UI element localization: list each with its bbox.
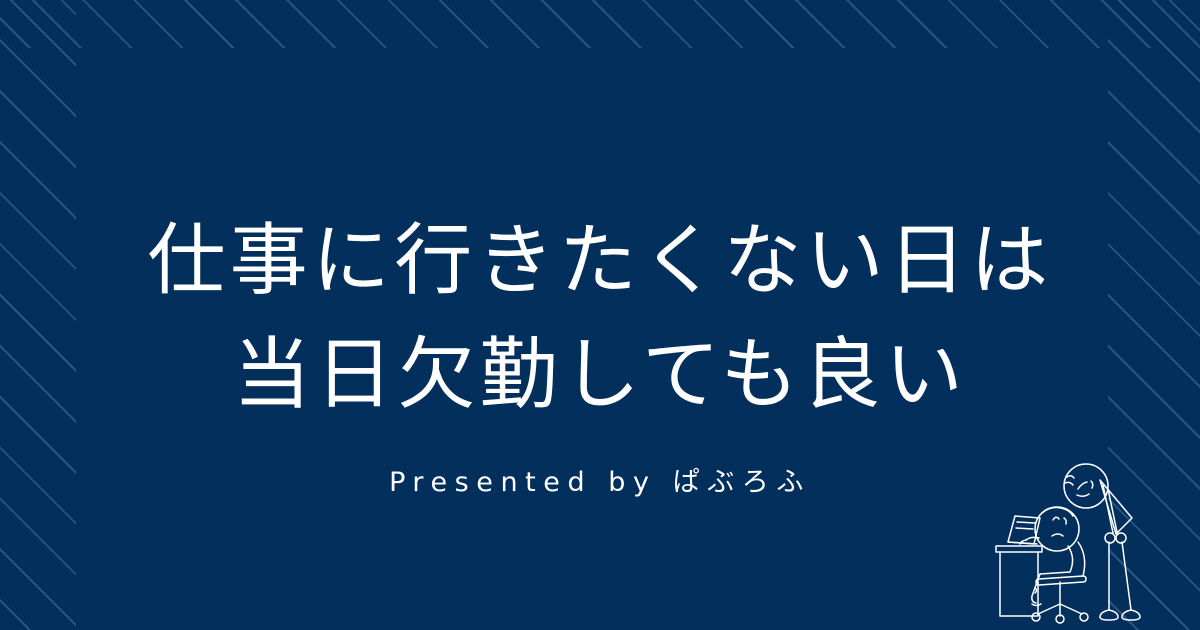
chair-backrest xyxy=(1078,542,1085,576)
standing-figure-hand-right xyxy=(1116,533,1126,543)
chair-seat xyxy=(1036,576,1086,585)
chair-base-right xyxy=(1060,604,1082,614)
title-line-1: 仕事に行きたくない日は xyxy=(147,222,1052,300)
seated-figure-group xyxy=(1020,507,1079,606)
seated-figure-face-icon xyxy=(1052,517,1066,536)
standing-figure-foot-left xyxy=(1100,610,1118,620)
laptop-keyboard xyxy=(1008,542,1037,544)
chair-caster-right xyxy=(1080,613,1088,621)
credit-line: Presented by ぱぶろふ xyxy=(389,460,811,499)
desk-top xyxy=(996,546,1042,552)
desk-drawer-handle xyxy=(1035,588,1037,593)
title-line-2: 当日欠勤しても良い xyxy=(233,336,967,414)
illustration-stick-figures xyxy=(982,456,1182,628)
chair-base-left xyxy=(1038,604,1060,614)
laptop-screen-line-2 xyxy=(1016,528,1033,529)
standing-figure-face-icon xyxy=(1077,481,1093,496)
office-chair xyxy=(1032,542,1088,623)
standing-figure-foot-right xyxy=(1122,610,1140,620)
standing-figure-leg-right xyxy=(1122,542,1131,610)
standing-figure-hand-left xyxy=(1105,533,1115,543)
title-card: 仕事に行きたくない日は 当日欠勤しても良い Presented by ぱぶろふ xyxy=(0,0,1200,630)
chair-caster-left xyxy=(1032,613,1040,621)
seated-figure-torso xyxy=(1040,546,1073,574)
laptop-screen-line-1 xyxy=(1017,522,1035,523)
standing-figure-hair-icon xyxy=(1065,476,1074,485)
seated-figure-foot xyxy=(1032,604,1041,606)
desk-body xyxy=(1000,552,1038,616)
